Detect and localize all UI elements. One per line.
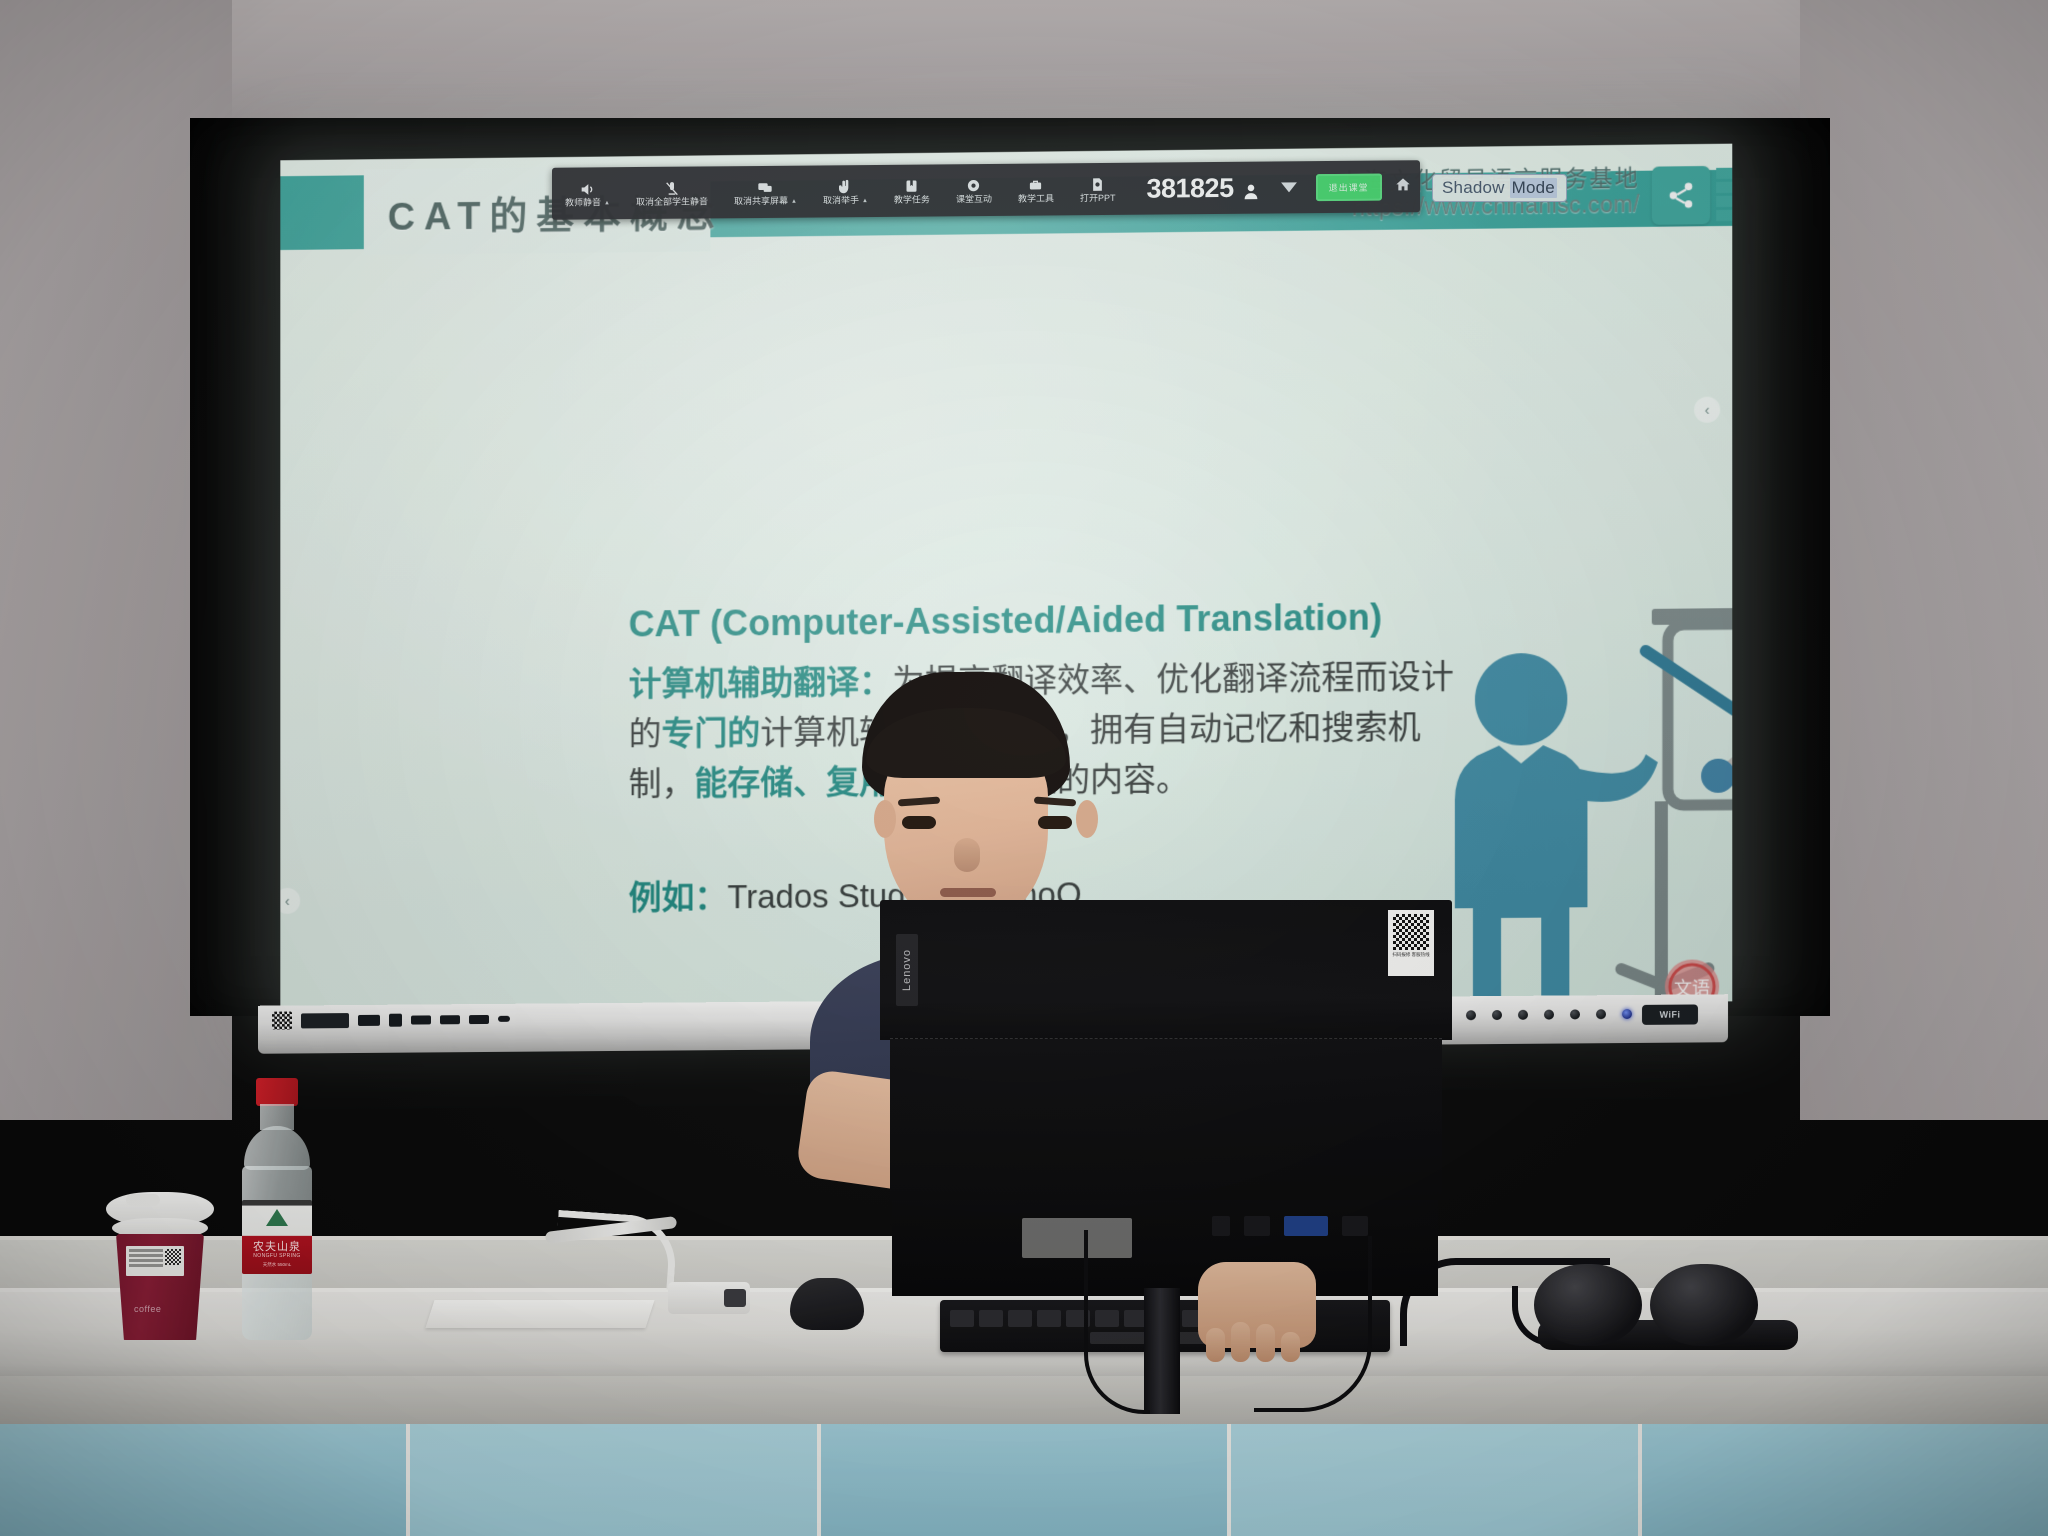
label-qr [165, 1249, 181, 1265]
panel-hdmi-port-2[interactable] [440, 1015, 460, 1024]
wall-upper [0, 0, 2048, 120]
panel-usb-port[interactable] [301, 1013, 349, 1028]
bottle-brand-en: NONGFU SPRING [242, 1253, 312, 1259]
slide-prev-button[interactable]: ‹ [280, 888, 300, 914]
screen-share-icon [757, 179, 774, 196]
monitor-vent-shell: ThinkVision [890, 1038, 1442, 1226]
toolbar-label: 教学工具 [1018, 194, 1054, 203]
ear-left [874, 800, 896, 838]
toolbar-item-class-interaction[interactable]: 课堂互动 [943, 164, 1005, 217]
speaker-icon [579, 180, 596, 197]
desk-front-panel [0, 1376, 2048, 1426]
water-bottle: 农夫山泉 NONGFU SPRING 天然水 550mL [238, 1078, 316, 1340]
toolbar-label: 教师静音 [565, 198, 601, 207]
bottle-brand-detail: 天然水 550mL [242, 1262, 312, 1268]
book-icon [903, 178, 920, 195]
cabinet-door[interactable] [0, 1424, 410, 1536]
panel-button[interactable] [1544, 1010, 1554, 1020]
panel-qr-sticker [272, 1012, 292, 1030]
home-icon[interactable] [1394, 176, 1412, 197]
monitor-vga-port[interactable] [1284, 1216, 1328, 1236]
panel-hdmi-port-1[interactable] [411, 1015, 431, 1024]
eye-right [1038, 816, 1072, 829]
toolbar-label: 取消共享屏幕 [734, 197, 788, 206]
monitor-upper-shell: Lenovo 扫码报修 客服热线 [880, 900, 1452, 1040]
ear-right [1076, 800, 1098, 838]
cabinet-door[interactable] [821, 1424, 1231, 1536]
nose [954, 838, 980, 872]
room-number-value: 381825 [1146, 172, 1233, 204]
panel-hdmi-port-3[interactable] [469, 1014, 489, 1023]
mouth [940, 888, 996, 897]
exit-class-button[interactable]: 退出课堂 [1316, 173, 1382, 201]
panel-power-led[interactable] [1622, 1009, 1632, 1019]
cabinet-door[interactable] [1642, 1424, 2048, 1536]
cabinet-door[interactable] [410, 1424, 820, 1536]
headphone-earcup-left [1534, 1264, 1642, 1346]
caret-up-icon: ▲ [862, 198, 868, 204]
panel-sd-port[interactable] [358, 1014, 380, 1025]
headphone-earcup-right [1650, 1264, 1758, 1346]
panel-logo-badge: WiFi [1642, 1004, 1698, 1024]
caret-up-icon: ▲ [604, 200, 610, 206]
panel-button[interactable] [1518, 1010, 1528, 1020]
panel-button[interactable] [1570, 1009, 1580, 1019]
shadow-mode-prefix: Shadow [1442, 178, 1505, 198]
band-bar-decoration [1716, 168, 1732, 230]
mountain-logo-icon [266, 1209, 288, 1226]
monitor-port-strip [1212, 1216, 1368, 1236]
slide-title-accent-block [280, 175, 363, 250]
screenshot-root: CAT的基本概念 上海文化贸易语言服务基地 https://www.chinan… [0, 0, 2048, 1536]
panel-typec-port[interactable] [498, 1016, 510, 1022]
share-nodes-icon[interactable] [1652, 166, 1710, 225]
toolbar-item-unmute-all-students[interactable]: 取消全部学生静音 [623, 166, 721, 219]
cup-lid-tab [126, 1194, 160, 1206]
cabinet-door[interactable] [1231, 1424, 1641, 1536]
qr-caption: 扫码报修 客服热线 [1392, 952, 1429, 957]
toolbar-label: 课堂互动 [956, 195, 992, 204]
monitor-qr-sticker: 扫码报修 客服热线 [1388, 910, 1434, 976]
typing-hand [1198, 1262, 1316, 1348]
wall-right [1800, 0, 2048, 1120]
teaching-toolbar[interactable]: 教师静音▲ 取消全部学生静音 取消共享屏幕▲ 取消举手▲ 教学任务 [552, 160, 1420, 220]
ppt-file-icon [1089, 176, 1106, 193]
computer-mouse[interactable] [790, 1278, 864, 1330]
headphones[interactable] [1528, 1248, 1810, 1356]
paper-stack[interactable] [425, 1300, 654, 1328]
room-number: 381825 [1128, 161, 1273, 214]
bottle-cap [256, 1078, 298, 1106]
toolbar-item-stop-screen-share[interactable]: 取消共享屏幕▲ [721, 166, 810, 219]
caret-down-icon [1281, 182, 1297, 192]
toolbar-item-open-ppt[interactable]: 打开PPT [1067, 163, 1129, 216]
panel-lan-port[interactable] [389, 1013, 402, 1026]
cup-order-label [126, 1246, 184, 1276]
toolbar-label: 取消举手 [823, 196, 859, 205]
usb-adapter[interactable] [668, 1282, 750, 1314]
shadow-mode-highlight: Mode [1510, 178, 1557, 198]
shadow-mode-indicator: Shadow Mode [1432, 174, 1567, 202]
panel-port-row [272, 1010, 510, 1030]
toolbar-item-cancel-raise-hand[interactable]: 取消举手▲ [810, 165, 881, 218]
monitor-hdmi-port[interactable] [1244, 1216, 1270, 1236]
toolbar-item-teaching-tools[interactable]: 教学工具 [1005, 163, 1067, 216]
bottle-label: 农夫山泉 NONGFU SPRING 天然水 550mL [242, 1200, 312, 1274]
caret-up-icon: ▲ [791, 198, 797, 204]
toolbar-label: 打开PPT [1080, 194, 1116, 203]
toolbar-item-mute-teacher[interactable]: 教师静音▲ [552, 167, 623, 220]
toolbar-label: 取消全部学生静音 [636, 197, 708, 207]
monitor-audio-port[interactable] [1342, 1216, 1368, 1236]
slide-highlight-1: 专门的 [662, 714, 761, 752]
bottle-brand-cn: 农夫山泉 [242, 1238, 312, 1254]
circle-dot-icon [965, 177, 982, 194]
toolbar-label: 教学任务 [894, 195, 930, 204]
panel-button[interactable] [1466, 1010, 1476, 1020]
toolbox-icon [1027, 176, 1044, 193]
qr-code [1393, 914, 1429, 950]
label-lines [129, 1249, 163, 1273]
slide-next-button[interactable]: ‹ [1694, 397, 1720, 423]
panel-button[interactable] [1492, 1010, 1502, 1020]
monitor-brand-badge: Lenovo [896, 934, 918, 1006]
participants-dropdown-button[interactable] [1274, 161, 1304, 213]
cup-brand-text: coffee [134, 1304, 161, 1314]
bottle-shoulder [244, 1126, 310, 1170]
teacher-at-flipchart-illustration: 文语 [1429, 583, 1733, 1013]
monitor-brand-text: Lenovo [901, 949, 913, 991]
coffee-cup: coffee [112, 1192, 208, 1340]
panel-button-row[interactable] [1440, 1009, 1632, 1021]
raise-hand-icon [837, 178, 854, 195]
monitor-power-port[interactable] [1212, 1216, 1230, 1236]
desktop-monitor: Lenovo 扫码报修 客服热线 ThinkVision [872, 900, 1460, 1320]
monitor-cable-left [1084, 1230, 1150, 1414]
cabinet-row [0, 1424, 2048, 1536]
microphone-slash-icon [663, 180, 680, 197]
panel-button[interactable] [1596, 1009, 1606, 1019]
slide-heading-en: CAT (Computer-Assisted/Aided Translation… [629, 596, 1459, 646]
toolbar-item-teaching-tasks[interactable]: 教学任务 [881, 164, 943, 217]
example-label: 例如： [629, 878, 728, 916]
user-icon [1242, 178, 1260, 198]
eye-left [902, 816, 936, 829]
